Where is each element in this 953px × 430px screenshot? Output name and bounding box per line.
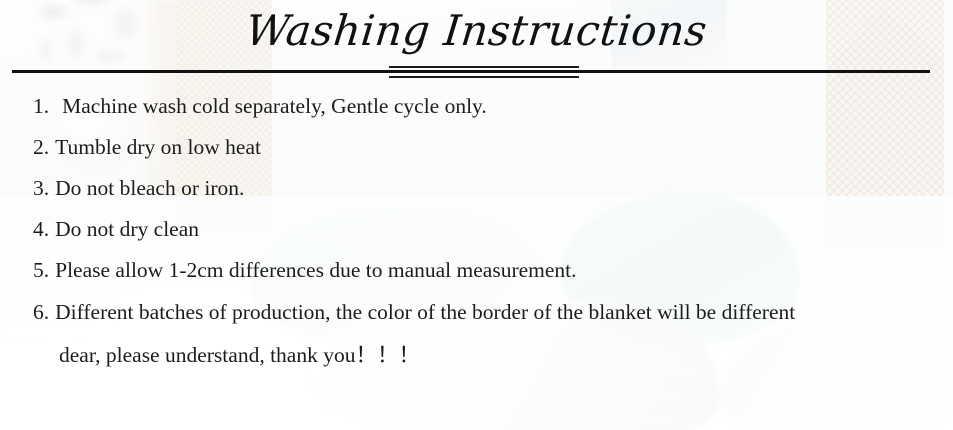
page-title: Washing Instructions bbox=[0, 2, 953, 60]
list-item-number: 1. bbox=[33, 86, 49, 127]
list-item-number: 6. bbox=[33, 291, 49, 334]
list-item-continuation: dear, please understand, thank you！！！ bbox=[0, 334, 953, 376]
title-accent-rule-top bbox=[389, 66, 579, 68]
list-item-text: Machine wash cold separately, Gentle cyc… bbox=[62, 86, 487, 127]
washing-instructions-banner: Washing Instructions 1. Machine wash col… bbox=[0, 0, 953, 430]
instructions-list: 1. Machine wash cold separately, Gentle … bbox=[0, 86, 953, 376]
title-divider-rule bbox=[12, 70, 930, 73]
list-item-text: Tumble dry on low heat bbox=[55, 127, 261, 168]
list-item-number: 5. bbox=[33, 250, 49, 291]
list-item-text: Do not dry clean bbox=[55, 209, 199, 250]
content-layer: Washing Instructions 1. Machine wash col… bbox=[0, 0, 953, 430]
list-item: 1. Machine wash cold separately, Gentle … bbox=[0, 86, 953, 127]
list-item: 2. Tumble dry on low heat bbox=[0, 127, 953, 168]
list-item: 4. Do not dry clean bbox=[0, 209, 953, 250]
list-item-text: Do not bleach or iron. bbox=[55, 168, 244, 209]
list-item-number: 2. bbox=[33, 127, 49, 168]
title-accent-rule-bottom bbox=[389, 76, 579, 78]
list-item-text: Please allow 1-2cm differences due to ma… bbox=[55, 250, 576, 291]
list-item-text: Different batches of production, the col… bbox=[55, 291, 795, 334]
list-item-number: 4. bbox=[33, 209, 49, 250]
list-item: 5. Please allow 1-2cm differences due to… bbox=[0, 250, 953, 291]
list-item: 6. Different batches of production, the … bbox=[0, 291, 953, 334]
list-item-number: 3. bbox=[33, 168, 49, 209]
list-item: 3. Do not bleach or iron. bbox=[0, 168, 953, 209]
